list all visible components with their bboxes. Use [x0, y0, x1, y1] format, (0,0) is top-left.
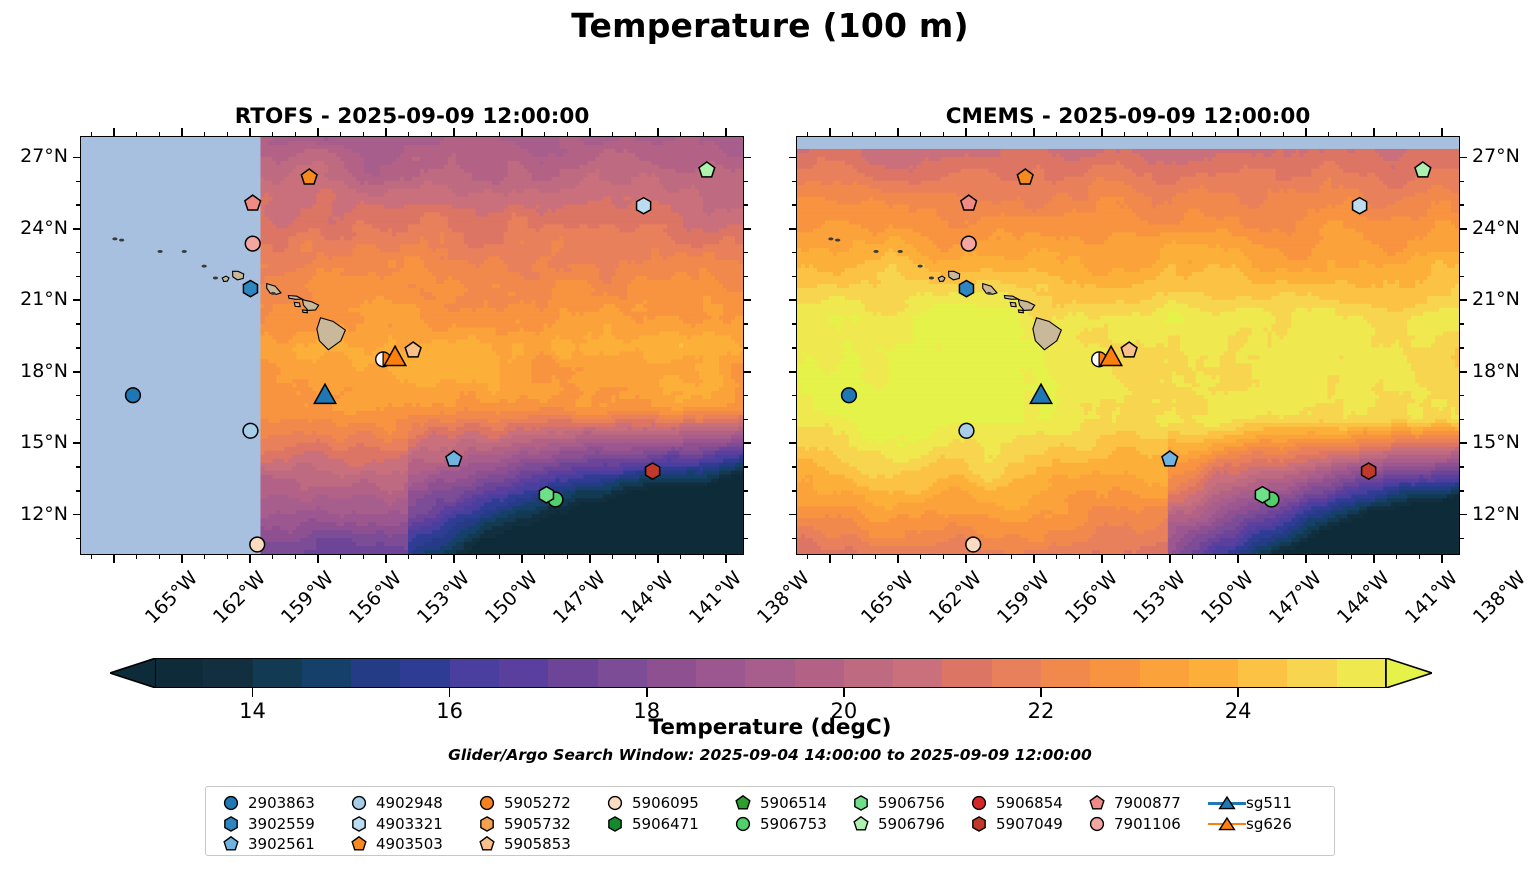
legend-marker-4903503: [342, 835, 376, 853]
x-tick-minor: [544, 555, 545, 559]
y-tick-label: 24°N: [0, 217, 68, 239]
x-tick-major: [453, 555, 455, 563]
x-tick-minor: [340, 132, 341, 136]
legend-item-label: 5906756: [878, 794, 945, 812]
y-tick-label: 15°N: [0, 431, 68, 453]
x-tick-minor: [988, 555, 989, 559]
legend-item[interactable]: 4902948: [342, 793, 470, 814]
x-tick-major: [1441, 555, 1443, 563]
legend-marker-5906756: [844, 794, 878, 812]
map-panel-rtofs[interactable]: [80, 136, 744, 555]
y-tick-major: [744, 157, 751, 159]
x-tick-label: 138°W: [753, 567, 814, 628]
x-tick-label: 138°W: [1469, 567, 1530, 628]
y-tick-minor: [792, 419, 796, 420]
x-tick-label: 150°W: [1197, 567, 1258, 628]
x-tick-label: 153°W: [413, 567, 474, 628]
legend-marker-sg511: [1208, 795, 1246, 811]
x-tick-major: [1305, 555, 1307, 563]
x-tick-minor: [227, 132, 228, 136]
x-tick-minor: [1396, 555, 1397, 559]
x-tick-minor: [635, 555, 636, 559]
x-tick-major: [1101, 128, 1103, 136]
y-tick-major: [73, 514, 80, 516]
x-tick-minor: [227, 555, 228, 559]
legend-item-label: 2903863: [248, 794, 315, 812]
legend-item[interactable]: 5905732: [470, 814, 598, 835]
x-tick-label: 162°W: [925, 567, 986, 628]
y-tick-minor: [792, 252, 796, 253]
x-tick-minor: [635, 132, 636, 136]
x-tick-minor: [1328, 132, 1329, 136]
x-tick-label: 159°W: [277, 567, 338, 628]
legend-item-label: 4902948: [376, 794, 443, 812]
x-tick-major: [317, 555, 319, 563]
x-tick-minor: [204, 132, 205, 136]
x-tick-minor: [1192, 555, 1193, 559]
y-tick-minor: [792, 395, 796, 396]
legend-item[interactable]: sg511: [1208, 793, 1328, 814]
legend-column: 59060955906471: [598, 793, 726, 855]
legend-item[interactable]: 5906471: [598, 814, 726, 835]
x-tick-label: 147°W: [549, 567, 610, 628]
legend-item[interactable]: 5906514: [726, 793, 844, 814]
legend-item[interactable]: sg626: [1208, 814, 1328, 835]
y-tick-minor: [1460, 490, 1464, 491]
y-tick-minor: [1460, 419, 1464, 420]
x-tick-major: [249, 128, 251, 136]
x-tick-minor: [1056, 555, 1057, 559]
x-tick-major: [385, 555, 387, 563]
x-tick-minor: [295, 132, 296, 136]
legend-marker-sg626: [1208, 816, 1246, 832]
y-tick-label: 27°N: [0, 145, 68, 167]
y-tick-minor: [792, 538, 796, 539]
legend-column: 59065145906753: [726, 793, 844, 855]
x-tick-minor: [875, 555, 876, 559]
x-tick-minor: [1124, 132, 1125, 136]
x-tick-minor: [703, 555, 704, 559]
panel-title-cmems: CMEMS - 2025-09-09 12:00:00: [796, 104, 1460, 129]
legend-column: sg511sg626: [1208, 793, 1328, 855]
y-tick-major: [1460, 371, 1467, 373]
legend-item[interactable]: 5906753: [726, 814, 844, 835]
x-tick-major: [1169, 555, 1171, 563]
y-tick-minor: [792, 181, 796, 182]
legend-marker-4902948: [342, 794, 376, 812]
x-tick-minor: [431, 132, 432, 136]
legend-item[interactable]: 5907049: [962, 814, 1080, 835]
figure-canvas: Temperature (100 m) RTOFS - 2025-09-09 1…: [0, 0, 1540, 889]
legend-marker-5906095: [598, 794, 632, 812]
x-tick-minor: [612, 555, 613, 559]
x-tick-minor: [680, 555, 681, 559]
x-tick-major: [897, 555, 899, 563]
legend-marker-5906854: [962, 794, 996, 812]
x-tick-major: [725, 555, 727, 563]
x-tick-label: 144°W: [617, 567, 678, 628]
y-tick-label: 12°N: [1472, 503, 1520, 525]
x-tick-minor: [680, 132, 681, 136]
x-tick-label: 141°W: [1401, 567, 1462, 628]
x-tick-major: [1373, 128, 1375, 136]
x-tick-minor: [920, 132, 921, 136]
y-tick-minor: [1460, 323, 1464, 324]
legend-item[interactable]: 5905272: [470, 793, 598, 814]
y-tick-major: [789, 514, 796, 516]
x-tick-label: 150°W: [481, 567, 542, 628]
x-tick-minor: [1419, 555, 1420, 559]
x-tick-minor: [920, 555, 921, 559]
y-tick-major: [1460, 157, 1467, 159]
y-tick-minor: [744, 538, 748, 539]
legend-item-label: 5906854: [996, 794, 1063, 812]
page-title: Temperature (100 m): [0, 6, 1540, 45]
y-tick-major: [1460, 442, 1467, 444]
x-tick-minor: [1283, 132, 1284, 136]
y-tick-minor: [1460, 276, 1464, 277]
x-tick-major: [1441, 128, 1443, 136]
x-tick-minor: [499, 132, 500, 136]
legend-column: 590527259057325905853: [470, 793, 598, 855]
legend-item-label: 5906095: [632, 794, 699, 812]
y-tick-major: [1460, 514, 1467, 516]
x-tick-major: [249, 555, 251, 563]
x-tick-major: [589, 128, 591, 136]
x-tick-minor: [703, 132, 704, 136]
x-tick-major: [829, 555, 831, 563]
x-tick-minor: [612, 132, 613, 136]
y-tick-minor: [76, 538, 80, 539]
x-tick-minor: [1147, 555, 1148, 559]
y-tick-minor: [1460, 538, 1464, 539]
x-tick-minor: [272, 132, 273, 136]
legend-item-label: 5907049: [996, 815, 1063, 833]
legend-item[interactable]: 5905853: [470, 834, 598, 855]
x-tick-major: [725, 128, 727, 136]
x-tick-major: [113, 555, 115, 563]
colorbar-extend-left: [110, 658, 156, 688]
x-tick-minor: [875, 132, 876, 136]
x-tick-minor: [943, 555, 944, 559]
legend[interactable]: 2903863390255939025614902948490332149035…: [205, 786, 1335, 856]
y-tick-minor: [76, 181, 80, 182]
y-tick-minor: [76, 204, 80, 205]
legend-item[interactable]: 5906756: [844, 793, 962, 814]
legend-marker-5906753: [726, 815, 760, 833]
y-tick-major: [744, 299, 751, 301]
y-tick-major: [1460, 299, 1467, 301]
y-tick-minor: [744, 323, 748, 324]
x-tick-major: [1169, 128, 1171, 136]
x-tick-minor: [136, 132, 137, 136]
colorbar-tick: [646, 688, 648, 697]
y-tick-minor: [1460, 466, 1464, 467]
legend-item-label: 3902559: [248, 815, 315, 833]
y-tick-major: [73, 371, 80, 373]
y-tick-minor: [1460, 204, 1464, 205]
y-tick-minor: [1460, 395, 1464, 396]
y-tick-minor: [76, 347, 80, 348]
colorbar-extend-right: [1386, 658, 1432, 688]
y-tick-major: [73, 299, 80, 301]
x-tick-major: [181, 555, 183, 563]
x-tick-minor: [204, 555, 205, 559]
y-tick-minor: [76, 276, 80, 277]
x-tick-major: [1373, 555, 1375, 563]
x-tick-major: [897, 128, 899, 136]
x-tick-minor: [1260, 555, 1261, 559]
x-tick-label: 147°W: [1265, 567, 1326, 628]
legend-item-label: 4903503: [376, 835, 443, 853]
colorbar-tick: [1040, 688, 1042, 697]
map-canvas-cmems: [797, 137, 1459, 554]
x-tick-label: 162°W: [209, 567, 270, 628]
y-tick-label: 27°N: [1472, 145, 1520, 167]
x-tick-minor: [91, 555, 92, 559]
x-tick-minor: [363, 555, 364, 559]
x-tick-minor: [1351, 132, 1352, 136]
legend-marker-7900877: [1080, 794, 1114, 812]
y-tick-minor: [744, 466, 748, 467]
x-tick-minor: [807, 132, 808, 136]
y-tick-label: 21°N: [1472, 288, 1520, 310]
x-tick-minor: [1192, 132, 1193, 136]
x-tick-label: 141°W: [685, 567, 746, 628]
x-tick-minor: [136, 555, 137, 559]
y-tick-label: 21°N: [0, 288, 68, 310]
x-tick-major: [657, 555, 659, 563]
x-tick-minor: [1283, 555, 1284, 559]
x-tick-major: [657, 128, 659, 136]
x-tick-label: 165°W: [857, 567, 918, 628]
y-tick-major: [744, 442, 751, 444]
y-tick-minor: [1460, 181, 1464, 182]
x-tick-minor: [159, 132, 160, 136]
x-tick-minor: [1147, 132, 1148, 136]
legend-column: 490294849033214903503: [342, 793, 470, 855]
x-tick-minor: [363, 132, 364, 136]
y-tick-major: [789, 371, 796, 373]
legend-item-label: 5905853: [504, 835, 571, 853]
y-tick-label: 15°N: [1472, 431, 1520, 453]
y-tick-label: 12°N: [0, 503, 68, 525]
x-tick-major: [829, 128, 831, 136]
x-tick-major: [1237, 128, 1239, 136]
y-tick-major: [789, 228, 796, 230]
colorbar-tick: [449, 688, 451, 697]
x-tick-minor: [943, 132, 944, 136]
y-tick-minor: [744, 395, 748, 396]
legend-item-label: 5906753: [760, 815, 827, 833]
legend-marker-2903863: [214, 794, 248, 812]
x-tick-minor: [567, 555, 568, 559]
y-tick-minor: [792, 204, 796, 205]
legend-item[interactable]: 5906095: [598, 793, 726, 814]
x-tick-minor: [1011, 132, 1012, 136]
x-tick-minor: [544, 132, 545, 136]
legend-marker-3902559: [214, 815, 248, 833]
x-tick-major: [181, 128, 183, 136]
x-tick-minor: [1328, 555, 1329, 559]
y-tick-label: 18°N: [0, 360, 68, 382]
x-tick-label: 156°W: [345, 567, 406, 628]
legend-item[interactable]: 4903503: [342, 834, 470, 855]
colorbar-tick: [252, 688, 254, 697]
x-tick-major: [521, 555, 523, 563]
colorbar-tick: [843, 688, 845, 697]
legend-marker-5905732: [470, 815, 504, 833]
x-tick-minor: [499, 555, 500, 559]
x-tick-major: [385, 128, 387, 136]
legend-item[interactable]: 7901106: [1080, 814, 1208, 835]
y-tick-major: [1460, 228, 1467, 230]
y-tick-minor: [744, 347, 748, 348]
x-tick-minor: [431, 555, 432, 559]
y-tick-minor: [1460, 347, 1464, 348]
y-tick-minor: [76, 419, 80, 420]
legend-marker-5906796: [844, 815, 878, 833]
legend-marker-5905853: [470, 835, 504, 853]
x-tick-minor: [852, 555, 853, 559]
legend-column: 59068545907049: [962, 793, 1080, 855]
y-tick-label: 24°N: [1472, 217, 1520, 239]
colorbar: 141618202224: [110, 658, 1430, 688]
y-tick-label: 18°N: [1472, 360, 1520, 382]
legend-item-label: 5906796: [878, 815, 945, 833]
x-tick-major: [317, 128, 319, 136]
x-tick-minor: [852, 132, 853, 136]
y-tick-major: [789, 442, 796, 444]
legend-marker-7901106: [1080, 815, 1114, 833]
legend-item[interactable]: 5906796: [844, 814, 962, 835]
y-tick-minor: [76, 490, 80, 491]
legend-item-label: 4903321: [376, 815, 443, 833]
x-tick-minor: [91, 132, 92, 136]
x-tick-minor: [1079, 132, 1080, 136]
legend-column: 59067565906796: [844, 793, 962, 855]
legend-item-label: sg511: [1246, 794, 1292, 812]
x-tick-minor: [567, 132, 568, 136]
y-tick-minor: [792, 347, 796, 348]
y-tick-minor: [744, 490, 748, 491]
y-tick-minor: [744, 252, 748, 253]
x-tick-major: [965, 555, 967, 563]
legend-item-label: 5906514: [760, 794, 827, 812]
x-tick-minor: [1419, 132, 1420, 136]
x-tick-minor: [1351, 555, 1352, 559]
x-tick-minor: [1215, 132, 1216, 136]
x-tick-minor: [1215, 555, 1216, 559]
legend-item[interactable]: 3902561: [214, 834, 342, 855]
legend-marker-5905272: [470, 794, 504, 812]
x-tick-major: [113, 128, 115, 136]
colorbar-frame: [154, 658, 1386, 688]
legend-item-label: sg626: [1246, 815, 1292, 833]
colorbar-label: Temperature (degC): [0, 715, 1540, 740]
legend-column: 79008777901106: [1080, 793, 1208, 855]
legend-marker-5907049: [962, 815, 996, 833]
y-tick-minor: [792, 490, 796, 491]
y-tick-minor: [76, 323, 80, 324]
x-tick-minor: [476, 555, 477, 559]
x-tick-label: 159°W: [993, 567, 1054, 628]
y-tick-major: [73, 157, 80, 159]
legend-marker-5906514: [726, 794, 760, 812]
x-tick-minor: [159, 555, 160, 559]
legend-marker-5906471: [598, 815, 632, 833]
x-tick-major: [589, 555, 591, 563]
legend-item[interactable]: 4903321: [342, 814, 470, 835]
y-tick-major: [789, 157, 796, 159]
legend-item-label: 5906471: [632, 815, 699, 833]
y-tick-minor: [1460, 252, 1464, 253]
x-tick-major: [1033, 128, 1035, 136]
y-tick-major: [789, 299, 796, 301]
panel-title-rtofs: RTOFS - 2025-09-09 12:00:00: [80, 104, 744, 129]
y-tick-minor: [744, 181, 748, 182]
x-tick-minor: [1396, 132, 1397, 136]
y-tick-minor: [744, 204, 748, 205]
x-tick-minor: [807, 555, 808, 559]
y-tick-minor: [76, 395, 80, 396]
legend-item[interactable]: 5906854: [962, 793, 1080, 814]
search-window-caption: Glider/Argo Search Window: 2025-09-04 14…: [0, 746, 1540, 764]
legend-item-label: 3902561: [248, 835, 315, 853]
x-tick-minor: [1011, 555, 1012, 559]
y-tick-minor: [744, 419, 748, 420]
colorbar-tick: [1237, 688, 1239, 697]
x-tick-major: [1237, 555, 1239, 563]
x-tick-major: [453, 128, 455, 136]
x-tick-major: [965, 128, 967, 136]
y-tick-major: [744, 228, 751, 230]
legend-marker-4903321: [342, 815, 376, 833]
legend-item-label: 5905732: [504, 815, 571, 833]
legend-item-label: 7901106: [1114, 815, 1181, 833]
x-tick-minor: [340, 555, 341, 559]
y-tick-major: [73, 442, 80, 444]
map-canvas-rtofs: [81, 137, 743, 554]
x-tick-minor: [988, 132, 989, 136]
legend-item[interactable]: 3902559: [214, 814, 342, 835]
legend-item[interactable]: 7900877: [1080, 793, 1208, 814]
x-tick-minor: [1079, 555, 1080, 559]
x-tick-minor: [476, 132, 477, 136]
y-tick-major: [73, 228, 80, 230]
x-tick-label: 153°W: [1129, 567, 1190, 628]
x-tick-minor: [1260, 132, 1261, 136]
x-tick-minor: [295, 555, 296, 559]
legend-column: 290386339025593902561: [214, 793, 342, 855]
x-tick-major: [1305, 128, 1307, 136]
y-tick-major: [744, 371, 751, 373]
y-tick-minor: [792, 466, 796, 467]
legend-item-label: 5905272: [504, 794, 571, 812]
y-tick-minor: [744, 276, 748, 277]
y-tick-minor: [76, 252, 80, 253]
x-tick-label: 144°W: [1333, 567, 1394, 628]
x-tick-minor: [1124, 555, 1125, 559]
legend-item[interactable]: 2903863: [214, 793, 342, 814]
legend-marker-3902561: [214, 835, 248, 853]
map-panel-cmems[interactable]: [796, 136, 1460, 555]
y-tick-minor: [76, 466, 80, 467]
x-tick-major: [1101, 555, 1103, 563]
y-tick-minor: [792, 276, 796, 277]
x-tick-minor: [1056, 132, 1057, 136]
x-tick-label: 165°W: [141, 567, 202, 628]
